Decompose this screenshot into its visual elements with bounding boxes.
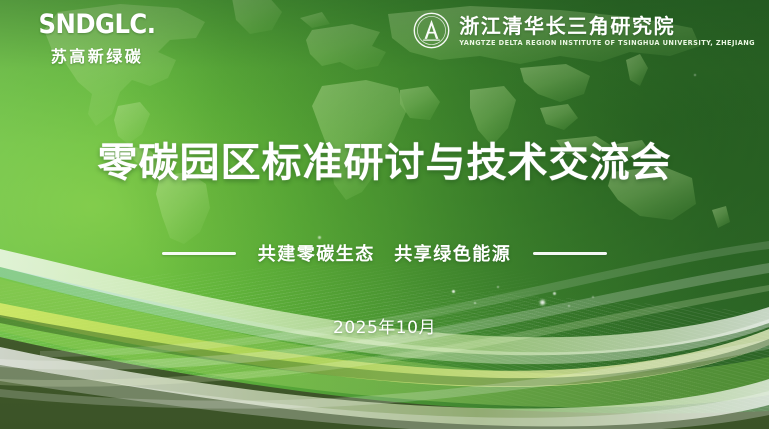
logo-sndglc: SNDGLC. 苏高新绿碳 [22,11,172,67]
logo-tsinghua-yrd-institute: 浙江清华长三角研究院 YANGTZE DELTA REGION INSTITUT… [413,12,755,49]
presentation-title-slide: SNDGLC. 苏高新绿碳 浙江清华长三角研究院 YANGTZE DELTA R… [0,0,769,429]
institute-chinese-name: 浙江清华长三角研究院 [459,15,675,37]
slide-main-title: 零碳园区标准研讨与技术交流会 [0,143,769,183]
slide-subtitle: 共建零碳生态 共享绿色能源 [258,240,512,266]
logo-sndglc-wordmark: SNDGLC. [22,11,172,38]
divider-rule-right [533,252,607,255]
institute-english-name: YANGTZE DELTA REGION INSTITUTE OF TSINGH… [459,40,755,47]
tsinghua-yrd-institute-seal-icon [413,12,450,49]
slide-subtitle-row: 共建零碳生态 共享绿色能源 [0,240,769,266]
slide-date: 2025年10月 [0,313,769,338]
divider-rule-left [162,252,236,255]
logo-sndglc-chinese-name: 苏高新绿碳 [22,43,172,67]
